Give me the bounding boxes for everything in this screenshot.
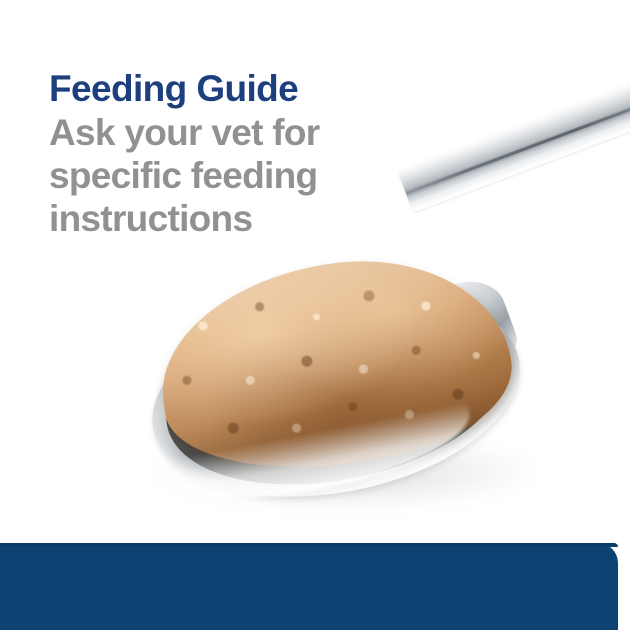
feeding-guide-card: Feeding Guide Ask your vet for specific … — [0, 0, 630, 630]
feeding-guide-text-block: Feeding Guide Ask your vet for specific … — [49, 68, 469, 240]
bottom-navy-bar — [0, 543, 618, 630]
subtext-line-2: specific feeding — [49, 154, 469, 197]
subtext-line-1: Ask your vet for — [49, 111, 469, 154]
page-title: Feeding Guide — [49, 68, 469, 109]
subtext-line-3: instructions — [49, 197, 469, 240]
